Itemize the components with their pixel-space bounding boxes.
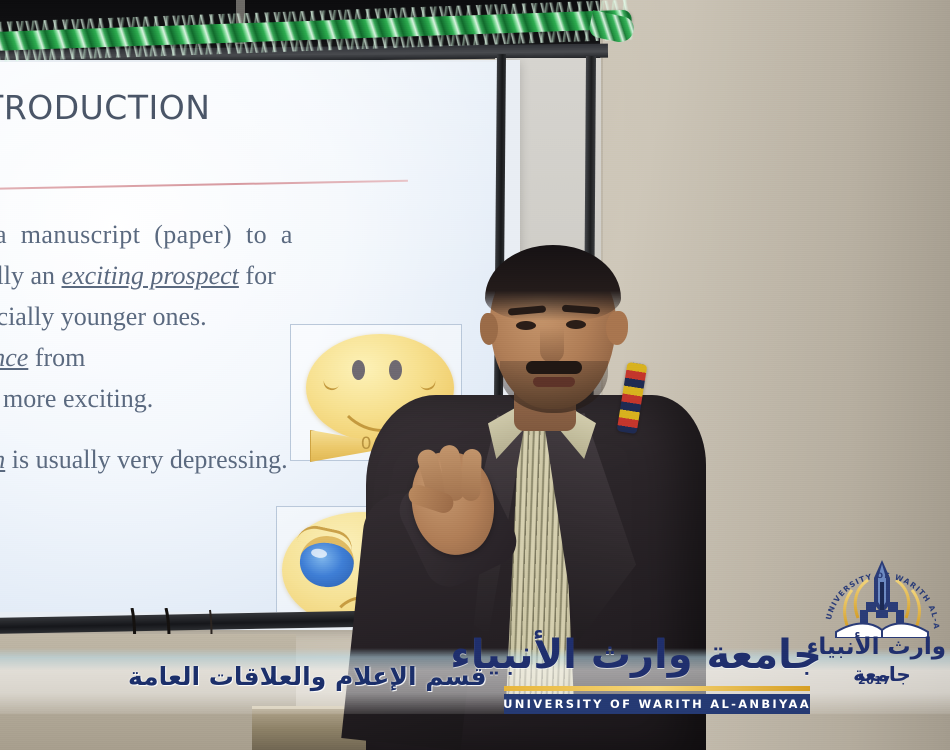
finger-3: [461, 449, 482, 502]
presenter-eye-right: [566, 320, 586, 329]
emblem-year: 2017: [858, 674, 891, 687]
university-emblem: UNIVERSITY OF WARITH AL-ANBIYAA وارث الأ…: [818, 556, 946, 716]
ear-right: [606, 311, 628, 345]
slide-title: NTRODUCTION: [0, 88, 210, 127]
slide-emphasis-exciting-prospect: exciting prospect: [62, 261, 239, 290]
photograph-canvas: NTRODUCTION f a manuscript (paper) to a …: [0, 0, 950, 750]
mustache: [526, 361, 582, 374]
wordmark-english: UNIVERSITY OF WARITH AL-ANBIYAA: [504, 694, 810, 714]
ear-left: [480, 313, 498, 345]
sad-eye-left-highlight: [311, 548, 328, 559]
slide-line-4-tail: from: [28, 343, 85, 372]
emblem-arabic-main: وارث الأنبياء: [818, 634, 946, 660]
nose: [540, 327, 564, 363]
hair: [485, 245, 621, 321]
presenter-eye-left: [516, 321, 536, 330]
slide-title-rule: [0, 180, 408, 190]
department-label-arabic: قسم الإعلام والعلاقات العامة: [128, 662, 487, 691]
slide-line-6-tail: is usually very depressing.: [5, 445, 287, 474]
presenter-mouth: [533, 377, 575, 387]
slide-emphasis-acceptance: tance: [0, 343, 28, 372]
slide-line-2-tail: for: [239, 261, 276, 290]
emblem-arc-graphic: UNIVERSITY OF WARITH AL-ANBIYAA: [818, 558, 946, 638]
wordmark-gold-rule: [504, 686, 810, 691]
university-wordmark: جامعة وارث الأنبياء UNIVERSITY OF WARITH…: [492, 636, 822, 722]
slide-line-2-head: ually an: [0, 261, 62, 290]
wordmark-arabic: جامعة وارث الأنبياء: [492, 632, 822, 678]
